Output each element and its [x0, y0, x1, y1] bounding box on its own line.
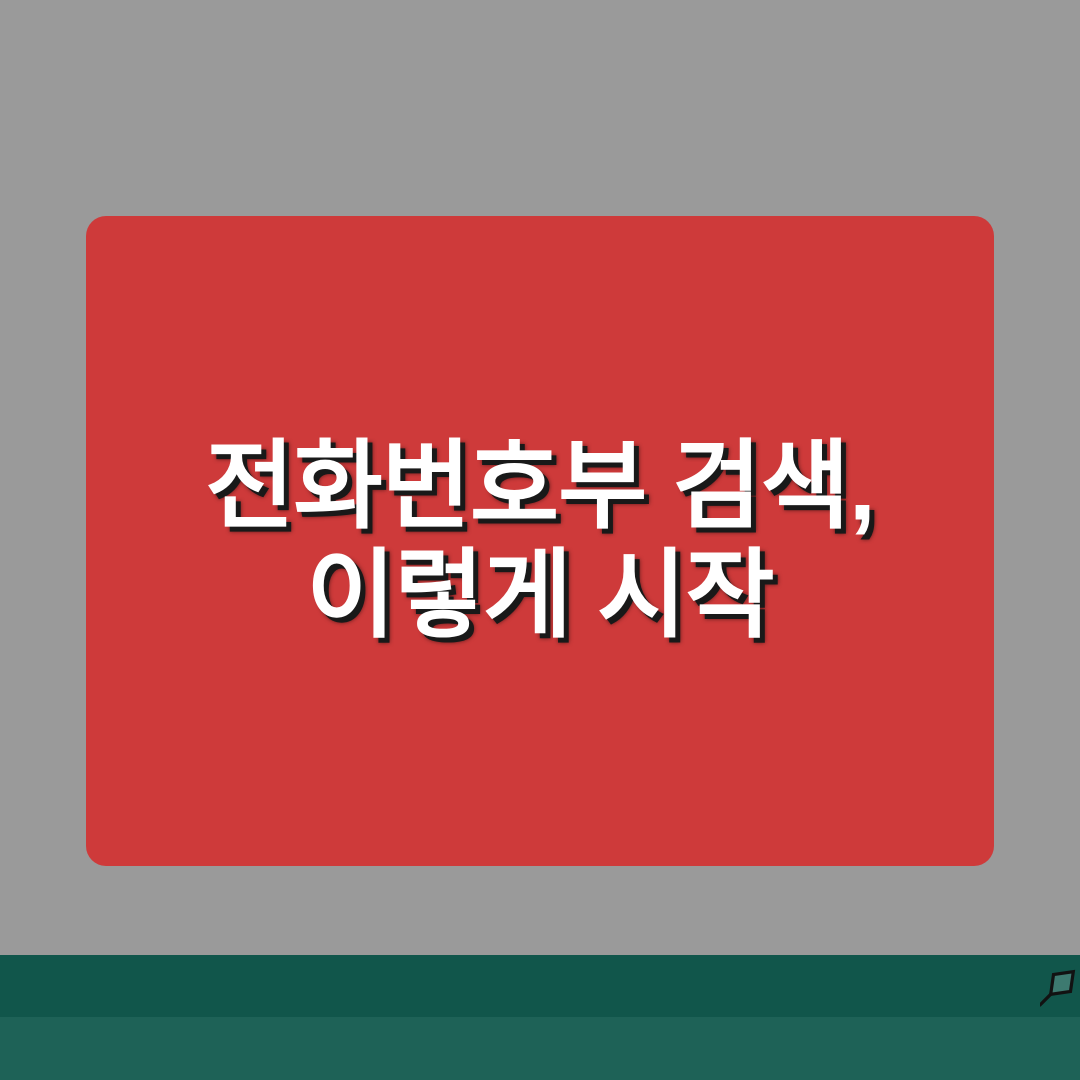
pushpin-icon [1040, 963, 1080, 1007]
footer-band-upper [0, 955, 1080, 1017]
pushpin-button[interactable] [1040, 963, 1080, 1007]
title-block: 전화번호부 검색, 이렇게 시작 [86, 432, 994, 649]
footer-band-lower [0, 1017, 1080, 1080]
video-thumbnail-card[interactable]: 전화번호부 검색, 이렇게 시작 [86, 216, 994, 866]
canvas: 전화번호부 검색, 이렇게 시작 [0, 0, 1080, 1080]
page-title: 전화번호부 검색, 이렇게 시작 [120, 432, 960, 649]
